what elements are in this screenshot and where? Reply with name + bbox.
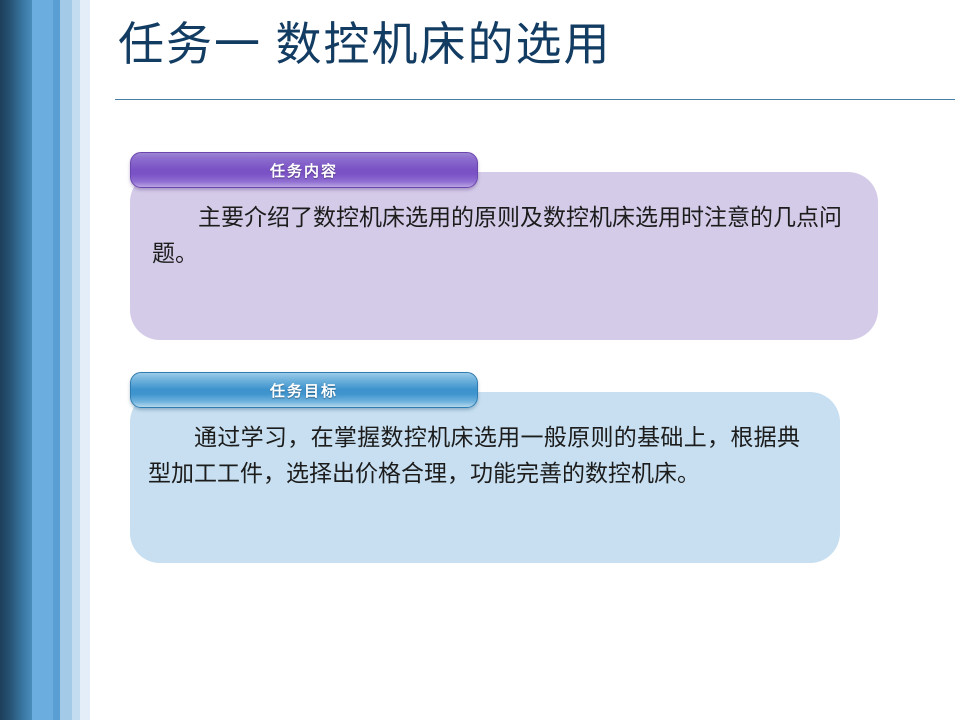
decorative-sidebar — [0, 0, 96, 720]
sidebar-stripe-gradient — [0, 0, 32, 720]
section-content-paragraph: 主要介绍了数控机床选用的原则及数控机床选用时注意的几点问题。 — [152, 200, 842, 272]
section-content-badge: 任务内容 — [130, 152, 478, 188]
section-goal-paragraph: 通过学习，在掌握数控机床选用一般原则的基础上，根据典型加工工件，选择出价格合理，… — [148, 420, 800, 492]
title-divider-rule — [115, 99, 955, 100]
section-goal-badge: 任务目标 — [130, 372, 478, 408]
section-content-badge-label: 任务内容 — [270, 160, 338, 181]
sidebar-stripe-medium-blue — [32, 0, 53, 720]
sidebar-stripe-pale-blue — [72, 0, 80, 720]
sidebar-stripe-faint-blue — [80, 0, 90, 720]
sidebar-stripe-steel-blue — [53, 0, 60, 720]
slide-canvas: 任务一 数控机床的选用 任务内容 主要介绍了数控机床选用的原则及数控机床选用时注… — [0, 0, 960, 720]
section-goal-badge-label: 任务目标 — [270, 380, 338, 401]
sidebar-stripe-light-blue — [60, 0, 72, 720]
slide-title: 任务一 数控机床的选用 — [118, 22, 612, 68]
